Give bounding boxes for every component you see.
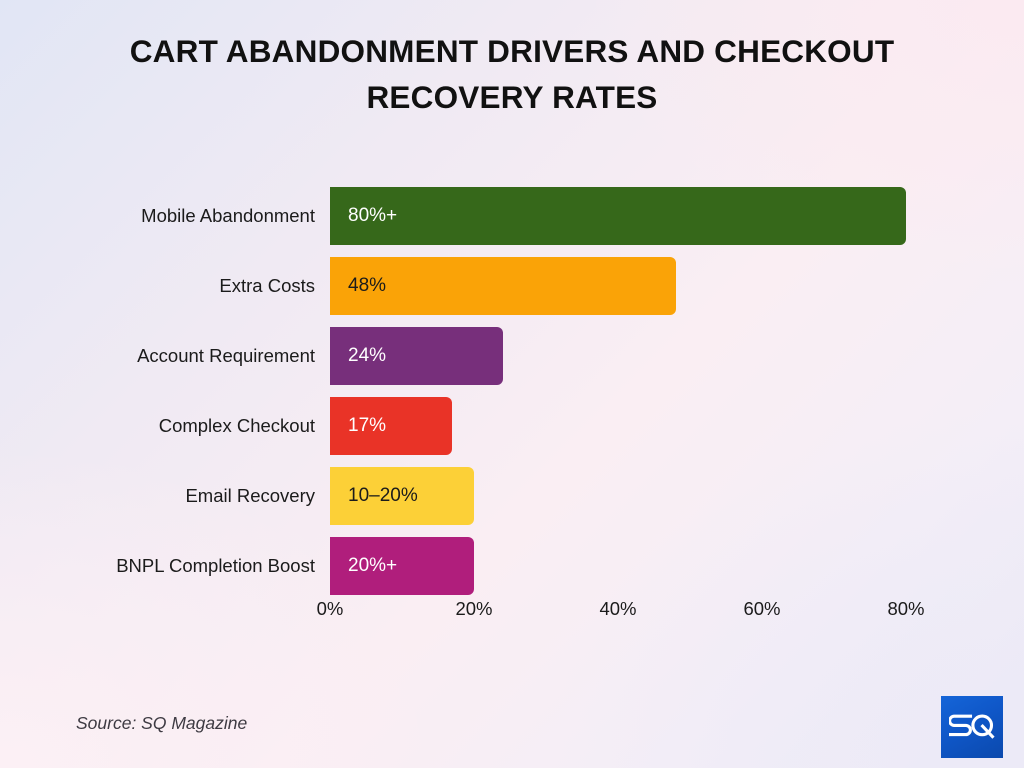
- bar[interactable]: 17%: [330, 397, 452, 455]
- x-axis: 0%20%40%60%80%: [0, 598, 1024, 628]
- sq-logo: [941, 696, 1003, 758]
- bar-value-label: 20%+: [348, 537, 397, 595]
- bar-row: BNPL Completion Boost20%+: [0, 537, 1024, 595]
- bar-value-label: 48%: [348, 257, 386, 315]
- bar[interactable]: 10–20%: [330, 467, 474, 525]
- bar-row: Mobile Abandonment80%+: [0, 187, 1024, 245]
- bar-category-label: Email Recovery: [185, 467, 315, 525]
- x-axis-tick-label: 20%: [455, 598, 492, 620]
- bar[interactable]: 80%+: [330, 187, 906, 245]
- bar-value-label: 80%+: [348, 187, 397, 245]
- bar-value-label: 24%: [348, 327, 386, 385]
- bar-category-label: Account Requirement: [137, 327, 315, 385]
- bar-row: Extra Costs48%: [0, 257, 1024, 315]
- bar[interactable]: 48%: [330, 257, 676, 315]
- bar-category-label: BNPL Completion Boost: [116, 537, 315, 595]
- bar[interactable]: 20%+: [330, 537, 474, 595]
- sq-logo-icon: [949, 713, 995, 741]
- bar[interactable]: 24%: [330, 327, 503, 385]
- bar-value-label: 10–20%: [348, 467, 418, 525]
- bar-row: Complex Checkout17%: [0, 397, 1024, 455]
- bar-chart-plot-area: Mobile Abandonment80%+Extra Costs48%Acco…: [0, 0, 1024, 768]
- x-axis-tick-label: 60%: [743, 598, 780, 620]
- source-note: Source: SQ Magazine: [76, 713, 247, 734]
- x-axis-tick-label: 40%: [599, 598, 636, 620]
- bar-category-label: Extra Costs: [219, 257, 315, 315]
- x-axis-tick-label: 80%: [887, 598, 924, 620]
- bar-category-label: Complex Checkout: [159, 397, 315, 455]
- x-axis-tick-label: 0%: [317, 598, 344, 620]
- bar-value-label: 17%: [348, 397, 386, 455]
- bar-category-label: Mobile Abandonment: [141, 187, 315, 245]
- infographic-canvas: CART ABANDONMENT DRIVERS AND CHECKOUT RE…: [0, 0, 1024, 768]
- bar-row: Account Requirement24%: [0, 327, 1024, 385]
- bar-row: Email Recovery10–20%: [0, 467, 1024, 525]
